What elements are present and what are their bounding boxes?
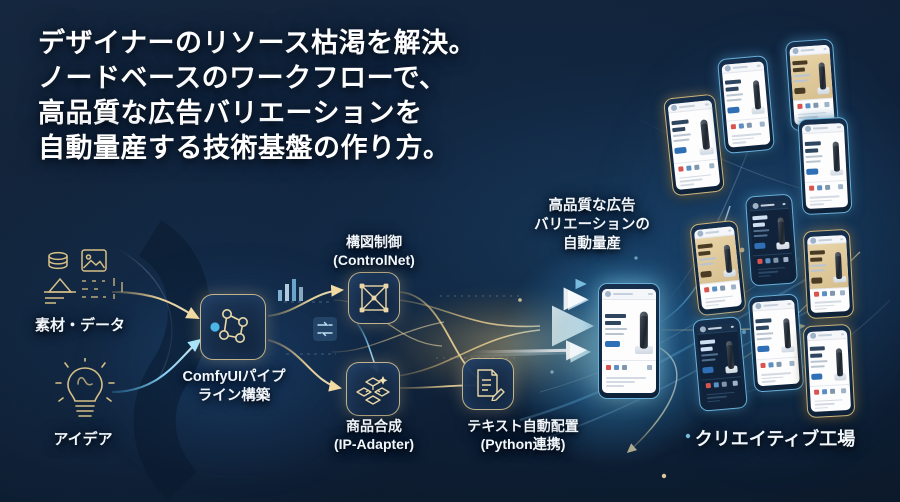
chart-icon	[44, 279, 76, 303]
caption-line	[815, 304, 835, 306]
product-bottle	[832, 142, 840, 172]
ad-headline-line	[805, 141, 821, 146]
ad-creative	[807, 243, 848, 288]
ad-headline-line	[698, 251, 710, 256]
caption-line	[680, 183, 694, 186]
product-bottle	[724, 244, 733, 273]
node-label-python: テキスト自動配置 (Python連携)	[448, 418, 598, 454]
caption-line	[758, 267, 785, 270]
ad-headline-line	[672, 127, 685, 132]
ad-copy	[753, 310, 779, 359]
caption-line	[680, 179, 703, 183]
ad-headline-line	[605, 321, 621, 325]
more-line	[840, 238, 843, 240]
ad-headline-line	[810, 250, 825, 255]
ad-caption	[810, 396, 851, 412]
input-label-idea: アイデア	[24, 430, 142, 449]
caption-line	[606, 377, 646, 379]
product-photo	[745, 70, 768, 119]
ad-caption	[702, 388, 743, 406]
node-label-controlnet: 構図制御 (ControlNet)	[312, 234, 436, 270]
product-bottle	[700, 119, 710, 150]
phone-mockup	[689, 220, 746, 317]
ad-caption	[602, 374, 656, 393]
caption-line	[732, 133, 762, 137]
like-icon	[797, 103, 802, 108]
ad-body-line	[756, 332, 773, 335]
product-bottle	[752, 80, 761, 110]
caption-line	[707, 396, 728, 399]
phone-screen	[697, 322, 744, 405]
save-icon	[709, 163, 714, 168]
ad-header	[602, 289, 656, 300]
caption-line	[706, 304, 719, 307]
ad-body-line	[810, 264, 826, 267]
phone-screen	[802, 123, 848, 209]
save-icon	[824, 101, 829, 106]
caption-line	[798, 112, 826, 115]
more-line	[705, 104, 709, 106]
save-icon	[789, 361, 794, 366]
avatar	[805, 126, 811, 132]
handle-line	[613, 293, 633, 295]
avatar	[810, 237, 816, 243]
ipadapter-subtitle: (IP-Adapter)	[334, 436, 414, 452]
share-icon	[813, 102, 818, 107]
comment-icon	[765, 258, 770, 263]
hub-label-line-2: ライン構築	[198, 388, 271, 404]
product-bottle	[640, 312, 648, 349]
phone-mockup	[803, 229, 855, 319]
ad-body-line	[605, 333, 624, 335]
caption-line	[761, 372, 791, 376]
phone-screen	[807, 330, 851, 412]
comment-icon	[712, 286, 717, 291]
more-line	[823, 48, 827, 50]
node-python-text[interactable]	[462, 358, 514, 410]
caption-line	[732, 137, 754, 141]
ad-creative	[802, 132, 846, 182]
database-icon	[49, 253, 67, 269]
avatar	[755, 303, 761, 309]
share-icon	[622, 365, 627, 370]
product-photo	[771, 208, 792, 254]
ad-body-line	[673, 134, 691, 138]
output-line-1: 高品質な広告	[549, 198, 636, 214]
handle-line	[801, 49, 815, 52]
ad-body-line	[757, 337, 772, 340]
product-photo	[717, 235, 740, 282]
node-controlnet[interactable]	[348, 272, 400, 324]
more-line	[837, 126, 841, 128]
hub-label-line-1: ComfyUIパイプ	[182, 369, 285, 385]
avatar	[725, 65, 732, 72]
ad-body-line	[674, 139, 690, 143]
avatar	[671, 105, 678, 112]
more-line	[648, 293, 653, 295]
transfer-icon	[312, 316, 338, 342]
share-icon	[830, 389, 835, 394]
ad-cta-button	[811, 277, 822, 284]
caption-line	[606, 385, 624, 387]
phone-screen	[789, 45, 834, 126]
more-line	[728, 229, 732, 231]
output-line-2: バリエーションの	[534, 217, 650, 233]
product-bottle	[836, 348, 844, 377]
headline-line-3: 高品質な広告バリエーションを	[38, 96, 476, 131]
share-icon	[694, 164, 699, 169]
ad-creative	[722, 70, 768, 121]
save-icon	[733, 381, 738, 386]
ad-creative	[790, 53, 833, 100]
comment-icon	[822, 291, 827, 296]
like-icon	[809, 186, 814, 191]
ad-headline-line	[701, 347, 713, 352]
ad-creative	[697, 331, 741, 380]
product-photo	[632, 300, 656, 359]
image-icon	[82, 250, 106, 271]
data-dots-icon	[82, 278, 122, 299]
product-photo	[776, 309, 798, 358]
caption-line	[810, 203, 824, 205]
handle-line	[679, 105, 695, 108]
save-icon	[731, 284, 736, 289]
avatar	[810, 333, 816, 339]
handle-line	[818, 239, 832, 241]
ad-creative	[753, 309, 798, 360]
comment-icon	[614, 365, 619, 370]
avatar	[752, 203, 758, 209]
comment-icon	[739, 124, 744, 129]
product-bottle	[783, 318, 791, 348]
phone-screen	[807, 235, 850, 313]
ad-creative	[807, 339, 849, 387]
ad-creative	[695, 235, 740, 285]
ad-body-line	[794, 80, 808, 83]
comment-icon	[805, 103, 810, 108]
node-label-ip-adapter: 商品合成 (IP-Adapter)	[308, 418, 440, 454]
ad-body-line	[753, 229, 769, 232]
ad-cta-button	[754, 243, 765, 250]
handle-line	[763, 304, 778, 307]
ipadapter-title: 商品合成	[346, 418, 402, 434]
ad-cta-button	[727, 107, 739, 114]
share-icon	[825, 185, 830, 190]
ad-headline-line	[805, 148, 818, 153]
ad-caption	[757, 368, 800, 386]
ad-headline-line	[672, 120, 689, 126]
assets-icon-group	[38, 248, 134, 310]
ad-caption	[701, 291, 742, 309]
caption-line	[810, 199, 832, 202]
ad-headline-line	[726, 87, 739, 92]
comment-icon	[714, 382, 719, 387]
product-photo	[829, 243, 849, 287]
phone-screen	[721, 61, 770, 147]
share-icon	[722, 382, 727, 387]
like-icon	[757, 258, 762, 263]
ad-copy	[807, 244, 831, 288]
ad-body-line	[811, 269, 825, 272]
creative-factory-label: クリエイティブ工場	[660, 428, 890, 451]
mini-bar-chart-icon	[276, 276, 310, 302]
ad-body-line	[806, 155, 823, 158]
share-icon	[830, 291, 835, 296]
comment-icon	[768, 362, 773, 367]
ad-headline-line	[810, 353, 822, 358]
python-subtitle: (Python連携)	[481, 436, 566, 452]
caption-line	[810, 195, 840, 198]
share-icon	[747, 123, 752, 128]
ad-copy	[750, 210, 774, 256]
headline-line-4: 自動量産する技術基盤の作り方。	[38, 131, 476, 166]
caption-line	[815, 407, 828, 409]
node-ip-adapter[interactable]	[346, 362, 400, 416]
ad-headline-line	[810, 257, 822, 262]
phone-mockup	[598, 283, 660, 399]
ad-cta-button	[700, 271, 712, 278]
ad-headline-line	[697, 244, 713, 250]
save-icon	[841, 388, 846, 393]
share-icon	[776, 362, 781, 367]
ad-headline-line	[753, 223, 765, 228]
ad-body-line	[793, 74, 810, 77]
social-action-row	[602, 360, 656, 375]
caption-line	[815, 399, 843, 402]
lightbulb-icon	[48, 358, 122, 432]
ad-body-line	[810, 360, 827, 363]
ad-cta-button	[794, 88, 806, 95]
ad-copy	[807, 340, 831, 387]
caption-line	[679, 174, 711, 179]
ad-cta-button	[605, 341, 620, 347]
like-icon	[706, 383, 711, 388]
ad-caption	[805, 192, 848, 209]
comment-icon	[817, 185, 822, 190]
ad-body-line	[605, 328, 627, 330]
ad-cta-button	[806, 168, 818, 175]
save-icon	[647, 365, 652, 370]
handle-line	[818, 334, 832, 336]
more-line	[788, 303, 792, 305]
product-bottle	[835, 252, 842, 279]
phone-screen	[752, 300, 800, 387]
product-photo	[829, 339, 849, 386]
more-line	[757, 65, 761, 67]
python-title: テキスト自動配置	[467, 418, 579, 434]
phone-mockup	[798, 117, 853, 215]
ad-creative	[602, 300, 656, 359]
ad-caption	[675, 170, 720, 190]
node-graph-icon	[210, 304, 256, 350]
phone-mockup	[663, 94, 725, 197]
like-icon	[678, 166, 683, 171]
phone-mockup	[717, 55, 775, 154]
comfyui-hub-node[interactable]	[200, 294, 266, 360]
more-line	[730, 326, 734, 328]
phone-screen	[749, 200, 793, 281]
caption-line	[815, 308, 827, 310]
document-pencil-icon	[471, 367, 505, 401]
product-photo	[719, 331, 741, 378]
ad-cta-button	[811, 373, 822, 380]
page-headline: デザイナーのリソース枯渇を解決。 ノードベースのワークフローで、 高品質な広告バ…	[38, 26, 476, 166]
share-icon	[720, 285, 725, 290]
like-icon	[704, 287, 709, 292]
controlnet-title: 構図制御	[346, 234, 402, 250]
mesh-grid-icon	[357, 281, 391, 315]
like-icon	[814, 292, 819, 297]
ad-creative	[669, 109, 718, 162]
ad-body-line	[727, 99, 742, 102]
product-photo	[825, 132, 846, 181]
ad-caption	[727, 129, 770, 148]
ad-headline-line	[756, 325, 769, 330]
like-icon	[814, 390, 819, 395]
handle-line	[761, 204, 775, 207]
headline-line-2: ノードベースのワークフローで、	[38, 61, 476, 96]
ad-body-line	[806, 160, 821, 163]
ad-body-line	[702, 358, 716, 361]
ad-creative	[750, 208, 792, 255]
phone-mockup	[745, 193, 798, 286]
ad-headline-line	[793, 68, 805, 73]
caption-line	[762, 380, 776, 383]
ad-headline-line	[752, 216, 767, 221]
product-bottle	[778, 217, 786, 245]
product-bottle	[726, 340, 735, 369]
save-icon	[840, 290, 845, 295]
handle-line	[708, 327, 722, 330]
ad-headline-line	[700, 339, 716, 344]
headline-line-1: デザイナーのリソース枯渇を解決。	[38, 26, 476, 61]
ad-body-line	[699, 263, 713, 266]
avatar	[792, 48, 798, 54]
ad-headline-line	[725, 80, 742, 85]
save-icon	[783, 256, 788, 261]
ad-body-line	[754, 235, 768, 238]
caption-line	[761, 376, 783, 379]
share-icon	[773, 257, 778, 262]
like-icon	[606, 365, 611, 370]
cubes-icon	[355, 371, 391, 407]
handle-line	[705, 231, 719, 234]
ad-headline-line	[810, 346, 826, 351]
caption-line	[758, 271, 778, 274]
ad-body-line	[811, 365, 825, 368]
ad-copy	[602, 300, 632, 359]
ad-body-line	[726, 93, 743, 97]
caption-line	[707, 391, 735, 395]
like-icon	[731, 124, 736, 129]
save-icon	[838, 184, 843, 189]
input-label-assets: 素材・データ	[14, 316, 146, 335]
infographic-canvas: デザイナーのリソース枯渇を解決。 ノードベースのワークフローで、 高品質な広告バ…	[0, 0, 900, 502]
phone-mockup	[692, 316, 748, 412]
phone-screen	[602, 289, 656, 393]
ad-copy	[790, 55, 815, 101]
caption-line	[814, 301, 841, 304]
ad-cta-button	[757, 345, 769, 352]
avatar	[605, 291, 611, 297]
product-photo	[812, 53, 833, 99]
ad-headline-line	[605, 314, 626, 318]
more-line	[841, 333, 844, 335]
ad-cta-button	[702, 367, 714, 374]
save-icon	[760, 122, 765, 127]
ad-caption	[754, 264, 794, 281]
ad-body-line	[701, 353, 718, 356]
ad-headline-line	[755, 318, 771, 323]
output-label: 高品質な広告 バリエーションの 自動量産	[506, 197, 678, 254]
phone-screen	[668, 100, 721, 190]
caption-line	[705, 295, 733, 299]
caption-line	[732, 142, 746, 145]
caption-line	[606, 381, 635, 383]
phone-screen	[694, 226, 742, 310]
product-bottle	[818, 62, 826, 90]
controlnet-subtitle: (ControlNet)	[333, 252, 415, 268]
comment-icon	[822, 389, 827, 394]
ad-cta-button	[674, 147, 687, 154]
ad-caption	[810, 297, 850, 313]
avatar	[700, 326, 707, 333]
ad-headline-line	[792, 61, 808, 66]
more-line	[782, 203, 785, 205]
phone-mockup	[803, 324, 856, 418]
ad-copy	[802, 133, 828, 182]
handle-line	[733, 66, 748, 69]
caption-line	[815, 403, 836, 406]
like-icon	[760, 363, 765, 368]
avatar	[697, 230, 704, 237]
output-line-3: 自動量産	[563, 236, 621, 252]
product-photo	[693, 109, 718, 160]
caption-line	[705, 299, 726, 303]
handle-line	[813, 127, 828, 129]
comment-icon	[686, 165, 691, 170]
ad-body-line	[699, 257, 716, 261]
hub-label: ComfyUIパイプ ライン構築	[158, 368, 310, 405]
caption-line	[758, 275, 770, 277]
caption-line	[707, 400, 720, 403]
phone-mockup	[748, 293, 805, 392]
